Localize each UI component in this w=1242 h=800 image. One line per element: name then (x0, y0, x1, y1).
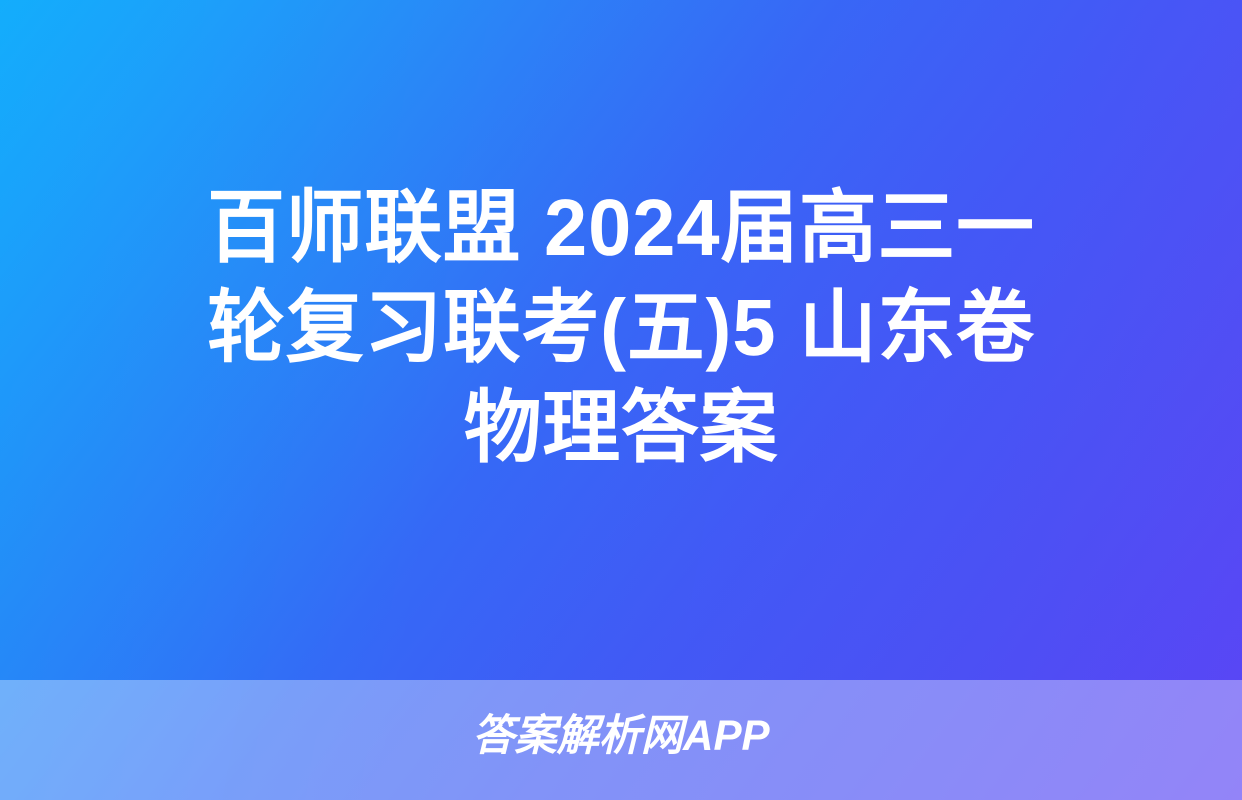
title-line-3: 物理答案 (57, 378, 1184, 478)
title-line-2: 轮复习联考(五)5 山东卷 (57, 278, 1184, 378)
cover-canvas: 百师联盟 2024届高三一 轮复习联考(五)5 山东卷 物理答案 答案解析网AP… (0, 0, 1242, 800)
page-title: 百师联盟 2024届高三一 轮复习联考(五)5 山东卷 物理答案 (0, 178, 1242, 478)
title-line-1: 百师联盟 2024届高三一 (57, 178, 1184, 278)
app-watermark-label: 答案解析网APP (12, 708, 1229, 764)
